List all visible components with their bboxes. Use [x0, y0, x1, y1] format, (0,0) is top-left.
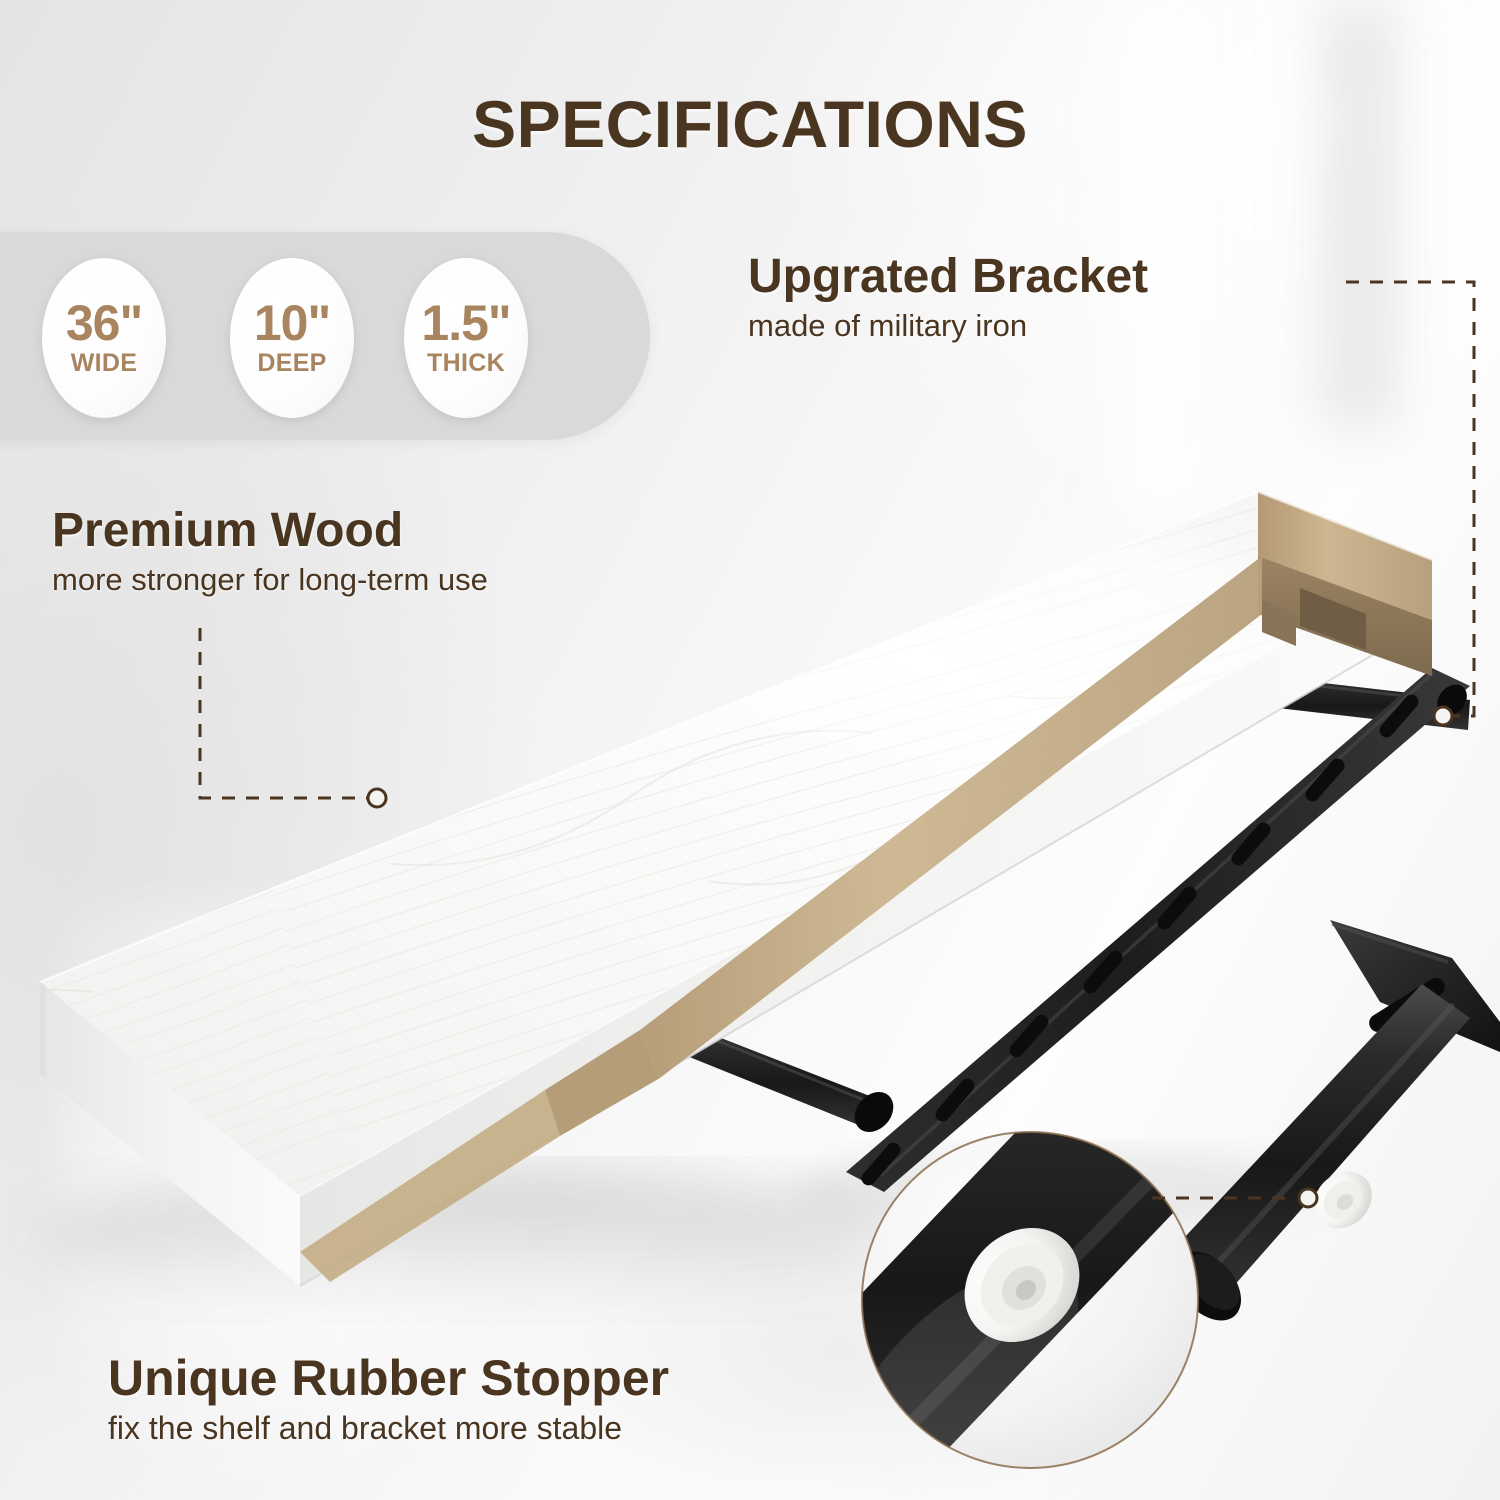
feature-subtitle: made of military iron — [748, 307, 1368, 344]
feature-title: Unique Rubber Stopper — [108, 1352, 888, 1405]
feature-subtitle: fix the shelf and bracket more stable — [108, 1409, 888, 1447]
spec-badge-value: 1.5" — [421, 299, 510, 348]
page-title: SPECIFICATIONS — [0, 86, 1500, 162]
spec-badge-value: 36" — [66, 299, 142, 348]
feature-wood: Premium Wood more stronger for long-term… — [52, 506, 712, 598]
feature-bracket: Upgrated Bracket made of military iron — [748, 252, 1368, 344]
product-illustration — [0, 0, 1500, 1500]
feature-subtitle: more stronger for long-term use — [52, 561, 712, 598]
spec-badge-label: DEEP — [257, 350, 326, 376]
spec-badge-deep: 10" DEEP — [230, 258, 354, 418]
bracket-foreground — [1162, 920, 1500, 1333]
specifications-infographic: SPECIFICATIONS 36" WIDE 10" DEEP 1.5" TH… — [0, 0, 1500, 1500]
feature-stopper: Unique Rubber Stopper fix the shelf and … — [108, 1352, 888, 1447]
callout-wood — [200, 628, 368, 798]
feature-title: Upgrated Bracket — [748, 252, 1368, 303]
spec-badge-value: 10" — [254, 299, 330, 348]
feature-title: Premium Wood — [52, 506, 712, 557]
spec-badge-wide: 36" WIDE — [42, 258, 166, 418]
spec-badge-label: THICK — [427, 350, 505, 376]
spec-badge-thick: 1.5" THICK — [404, 258, 528, 418]
spec-badge-label: WIDE — [71, 350, 137, 376]
